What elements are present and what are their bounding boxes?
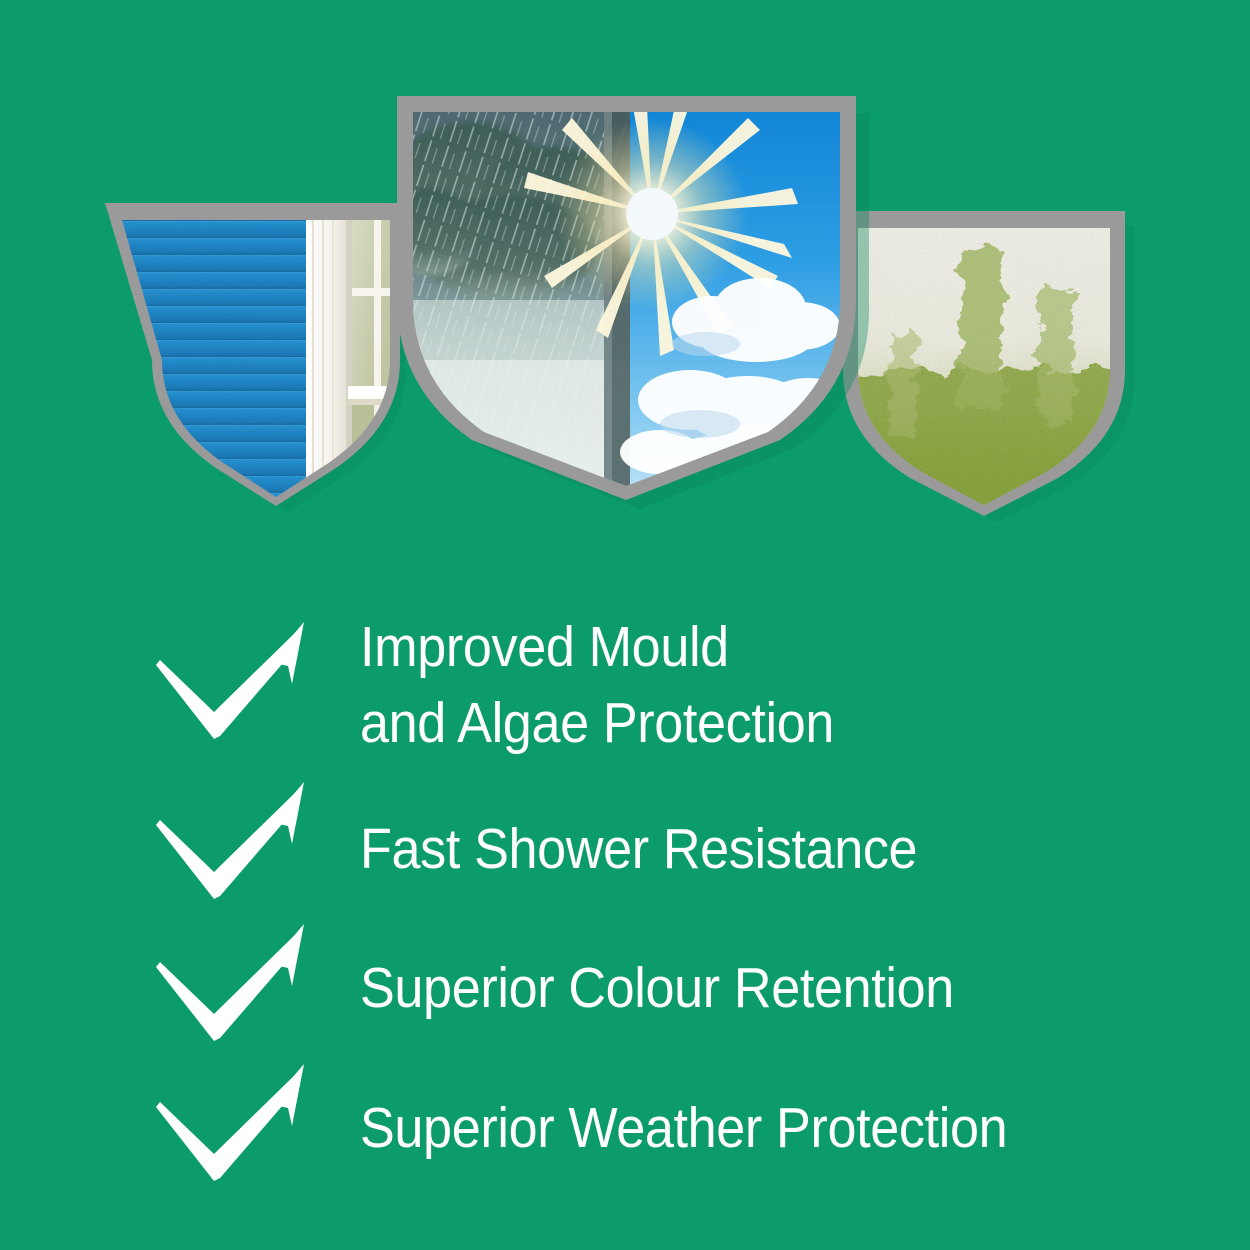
shield-group — [0, 0, 1250, 560]
list-item: Fast Shower Resistance — [0, 774, 1250, 920]
list-item: Improved Mould and Algae Protection — [0, 596, 1250, 774]
list-item: Superior Weather Protection — [0, 1060, 1250, 1200]
benefits-list: Improved Mould and Algae Protection Fast… — [0, 596, 1250, 1200]
list-item-label: Superior Weather Protection — [360, 1091, 1147, 1167]
shield-illustrations — [0, 0, 1250, 560]
list-item-label: Superior Colour Retention — [360, 951, 1147, 1027]
shield-algae — [841, 211, 1134, 525]
check-arrow-icon — [152, 778, 332, 908]
promo-graphic: Improved Mould and Algae Protection Fast… — [0, 0, 1250, 1250]
check-arrow-icon — [152, 618, 332, 748]
list-item: Superior Colour Retention — [0, 920, 1250, 1060]
list-item-label: Improved Mould and Algae Protection — [360, 610, 1147, 762]
check-arrow-icon — [152, 920, 332, 1050]
shield-weather — [380, 82, 869, 509]
list-item-label: Fast Shower Resistance — [360, 812, 1147, 888]
check-arrow-icon — [152, 1060, 332, 1190]
shield-masonry — [105, 203, 406, 512]
